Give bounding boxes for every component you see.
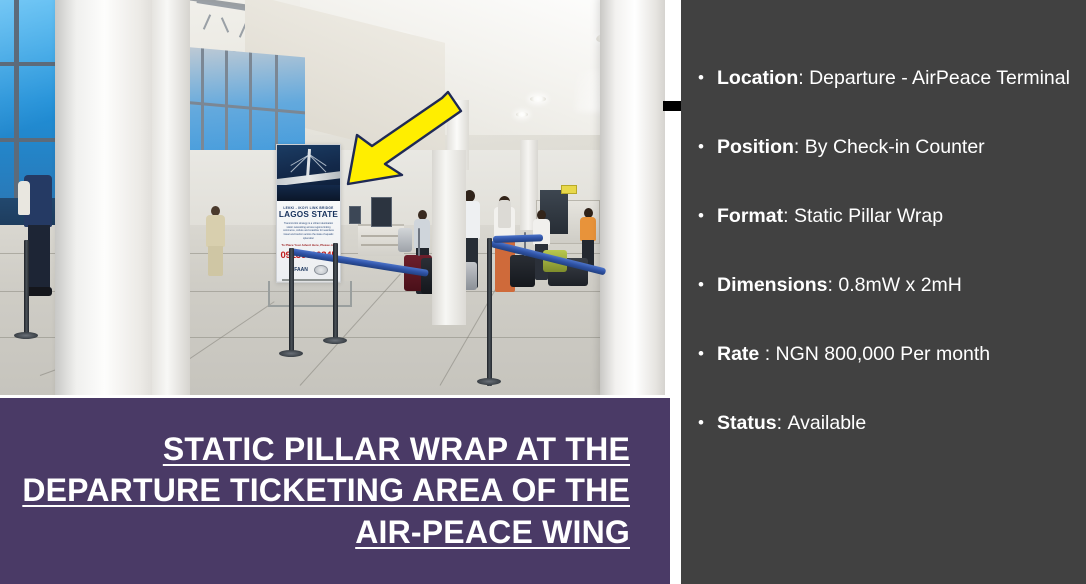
detail-value: Available bbox=[787, 412, 866, 434]
list-item: • Position: By Check-in Counter bbox=[698, 135, 1076, 159]
detail-location: Location: Departure - AirPeace Terminal bbox=[717, 66, 1070, 90]
detail-value: NGN 800,000 Per month bbox=[776, 343, 991, 365]
slide-root: LEKKI - IKOYI LINK BRIDGE LAGOS STATE Tr… bbox=[0, 0, 1086, 584]
list-item: • Rate : NGN 800,000 Per month bbox=[698, 342, 1076, 366]
detail-separator: : bbox=[798, 67, 803, 89]
queue-post-base bbox=[323, 337, 347, 344]
foreground-column-right bbox=[600, 0, 665, 395]
yellow-arrow-icon bbox=[330, 78, 465, 193]
queue-post-base bbox=[477, 378, 501, 385]
ad-call-to-action: To Place Your Advert Here, Please call bbox=[277, 244, 340, 248]
ad-copy-block: LEKKI - IKOYI LINK BRIDGE LAGOS STATE Tr… bbox=[277, 201, 340, 282]
bullet-icon: • bbox=[698, 342, 717, 366]
information-screen bbox=[349, 206, 361, 224]
detail-value: Static Pillar Wrap bbox=[794, 205, 943, 227]
detail-separator: : bbox=[777, 412, 782, 434]
detail-position: Position: By Check-in Counter bbox=[717, 135, 985, 159]
queue-post bbox=[333, 243, 338, 343]
list-item: • Location: Departure - AirPeace Termina… bbox=[698, 66, 1076, 90]
detail-separator: : bbox=[828, 274, 833, 296]
queue-post-base bbox=[14, 332, 38, 339]
caption-line-2: DEPARTURE TICKETING AREA OF THE bbox=[22, 470, 630, 512]
downlight-icon bbox=[530, 96, 546, 102]
detail-value: By Check-in Counter bbox=[805, 136, 985, 158]
information-screen bbox=[371, 197, 392, 227]
detail-label: Status bbox=[717, 412, 777, 434]
queue-post bbox=[24, 240, 29, 338]
panel-connector-tab bbox=[663, 101, 682, 111]
details-bullet-list: • Location: Departure - AirPeace Termina… bbox=[681, 0, 1086, 584]
ad-title: LAGOS STATE bbox=[277, 211, 340, 219]
list-item: • Dimensions: 0.8mW x 2mH bbox=[698, 273, 1076, 297]
seal-emblem-icon bbox=[314, 265, 328, 275]
ad-unit-floor-frame bbox=[268, 281, 352, 307]
foreground-column-edge bbox=[152, 0, 190, 395]
downlight-icon bbox=[516, 112, 528, 117]
detail-label: Dimensions bbox=[717, 274, 828, 296]
photo-scene: LEKKI - IKOYI LINK BRIDGE LAGOS STATE Tr… bbox=[0, 0, 665, 395]
detail-separator: : bbox=[765, 343, 770, 365]
caption-heading: STATIC PILLAR WRAP AT THE DEPARTURE TICK… bbox=[22, 429, 670, 554]
wall-sign bbox=[561, 185, 577, 194]
media-photograph: LEKKI - IKOYI LINK BRIDGE LAGOS STATE Tr… bbox=[0, 0, 665, 395]
caption-line-3: AIR-PEACE WING bbox=[22, 512, 630, 554]
detail-label: Format bbox=[717, 205, 783, 227]
detail-label: Location bbox=[717, 67, 798, 89]
detail-dimensions: Dimensions: 0.8mW x 2mH bbox=[717, 273, 962, 297]
detail-separator: : bbox=[794, 136, 799, 158]
caption-line-1: STATIC PILLAR WRAP AT THE bbox=[22, 429, 630, 471]
detail-status: Status: Available bbox=[717, 411, 866, 435]
bullet-icon: • bbox=[698, 273, 717, 297]
detail-rate: Rate : NGN 800,000 Per month bbox=[717, 342, 990, 366]
detail-value: 0.8mW x 2mH bbox=[838, 274, 962, 296]
detail-label: Position bbox=[717, 136, 794, 158]
list-item: • Format: Static Pillar Wrap bbox=[698, 204, 1076, 228]
queue-post bbox=[289, 248, 294, 356]
bullet-icon: • bbox=[698, 135, 717, 159]
detail-label: Rate bbox=[717, 343, 765, 365]
list-item: • Status: Available bbox=[698, 411, 1076, 435]
bullet-icon: • bbox=[698, 204, 717, 228]
ad-logo-row: FAAN bbox=[277, 265, 340, 275]
carry-on bbox=[398, 228, 412, 252]
detail-format: Format: Static Pillar Wrap bbox=[717, 204, 943, 228]
bullet-icon: • bbox=[698, 66, 717, 90]
caption-banner: STATIC PILLAR WRAP AT THE DEPARTURE TICK… bbox=[0, 398, 670, 584]
ad-body-text: Transmit-link strategy is a vibrant dest… bbox=[277, 222, 340, 240]
queue-post-base bbox=[279, 350, 303, 357]
suitcase bbox=[510, 255, 535, 287]
queue-post bbox=[487, 238, 492, 386]
details-panel: • Location: Departure - AirPeace Termina… bbox=[681, 0, 1086, 584]
detail-separator: : bbox=[783, 205, 788, 227]
bullet-icon: • bbox=[698, 411, 717, 435]
detail-value: Departure - AirPeace Terminal bbox=[809, 67, 1070, 89]
